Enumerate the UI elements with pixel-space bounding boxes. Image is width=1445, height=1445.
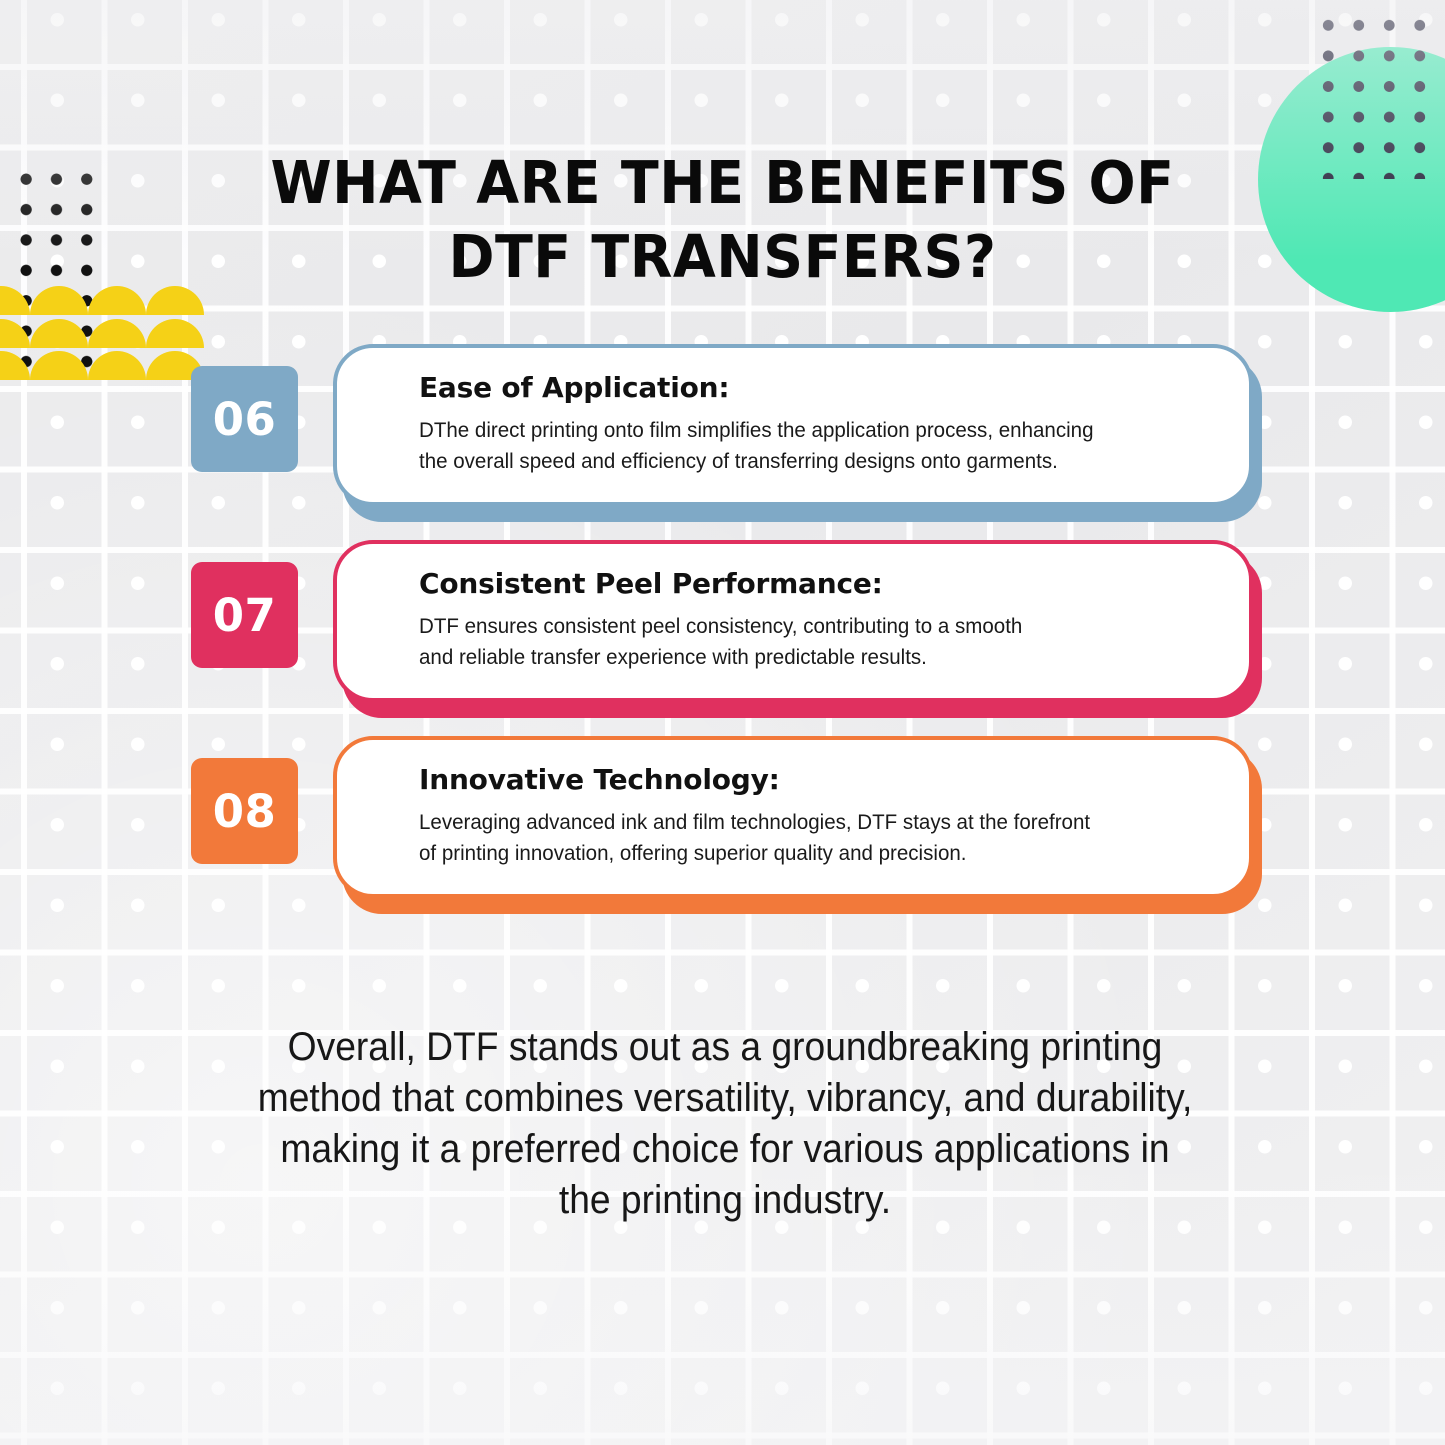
card-heading: Consistent Peel Performance: — [419, 566, 1211, 602]
semicircle-shape — [30, 286, 88, 315]
card-number-badge: 06 — [191, 366, 298, 472]
semicircle-shape — [0, 286, 30, 315]
card-container: Ease of Application:DThe direct printing… — [333, 344, 1253, 509]
card-heading: Ease of Application: — [419, 370, 1211, 406]
benefit-card-07: 07Consistent Peel Performance:DTF ensure… — [0, 536, 1445, 732]
card-description: DThe direct printing onto film simplifie… — [419, 415, 1175, 476]
footer-summary-text: Overall, DTF stands out as a groundbreak… — [209, 1022, 1241, 1226]
card-container: Innovative Technology:Leveraging advance… — [333, 736, 1253, 901]
card-number-badge: 07 — [191, 562, 298, 668]
semicircle-row — [0, 286, 152, 319]
infographic-poster: WHAT ARE THE BENEFITS OF DTF TRANSFERS? … — [0, 0, 1445, 1445]
card-surface: Consistent Peel Performance:DTF ensures … — [333, 540, 1253, 702]
teal-circle-decoration — [1258, 47, 1445, 312]
card-description: DTF ensures consistent peel consistency,… — [419, 611, 1175, 672]
card-description: Leveraging advanced ink and film technol… — [419, 807, 1175, 868]
card-container: Consistent Peel Performance:DTF ensures … — [333, 540, 1253, 705]
card-surface: Ease of Application:DThe direct printing… — [333, 344, 1253, 506]
card-surface: Innovative Technology:Leveraging advance… — [333, 736, 1253, 898]
semicircle-shape — [88, 286, 146, 315]
benefit-card-06: 06Ease of Application:DThe direct printi… — [0, 340, 1445, 536]
semicircle-shape — [146, 286, 204, 315]
page-title: WHAT ARE THE BENEFITS OF DTF TRANSFERS? — [213, 146, 1233, 294]
benefit-card-list: 06Ease of Application:DThe direct printi… — [0, 340, 1445, 928]
card-heading: Innovative Technology: — [419, 762, 1211, 798]
benefit-card-08: 08Innovative Technology:Leveraging advan… — [0, 732, 1445, 928]
card-number-badge: 08 — [191, 758, 298, 864]
